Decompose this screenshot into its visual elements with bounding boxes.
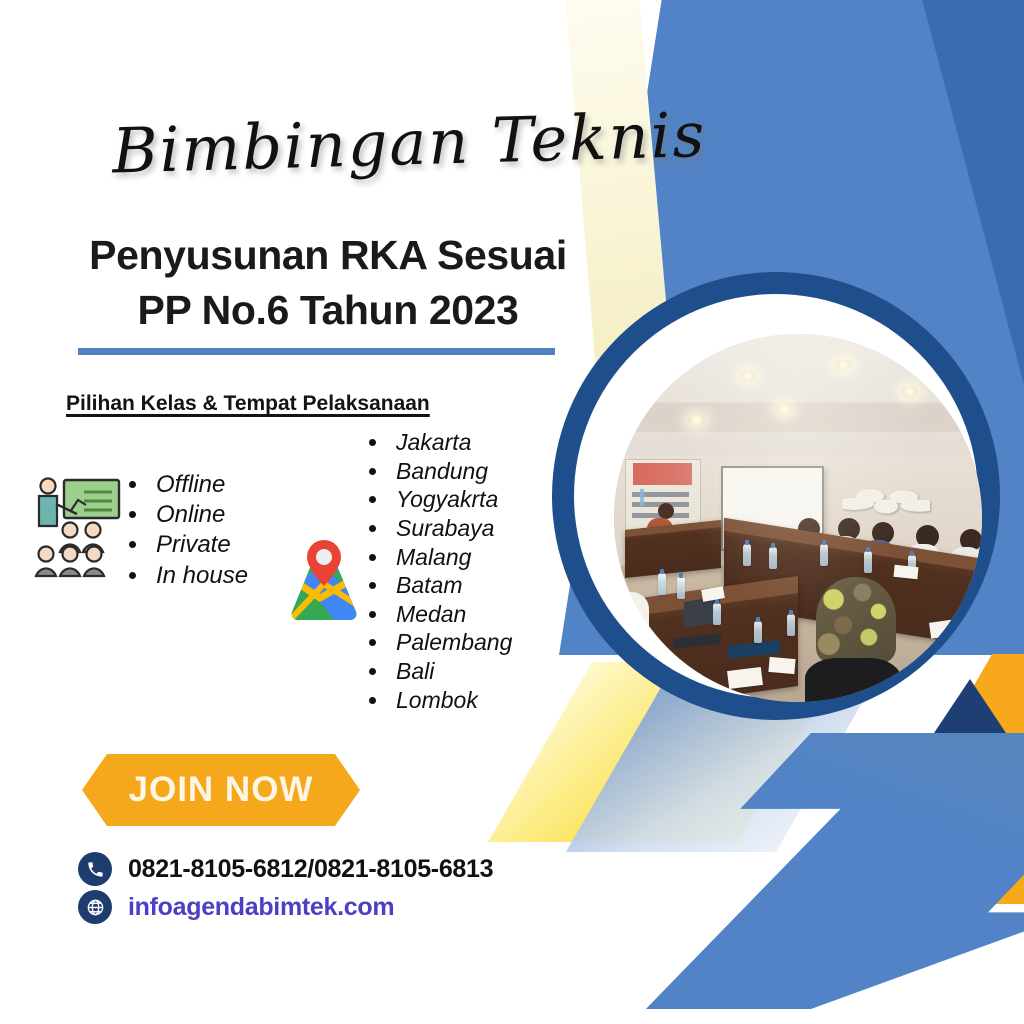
list-item: Bandung	[390, 457, 512, 486]
list-item: Palembang	[390, 628, 512, 657]
photo-ring-inner	[574, 294, 978, 698]
list-item: Offline	[150, 470, 248, 500]
locations-list: Jakarta Bandung Yogyakrta Surabaya Malan…	[366, 428, 512, 714]
list-item: Lombok	[390, 686, 512, 715]
globe-icon	[78, 890, 112, 924]
phone-contact-row[interactable]: 0821-8105-6812/0821-8105-6813	[78, 852, 493, 886]
poster-canvas: Bimbingan Teknis Penyusunan RKA Sesuai P…	[0, 0, 1024, 1024]
list-item: Jakarta	[390, 428, 512, 457]
script-heading: Bimbingan Teknis	[111, 101, 583, 187]
bottom-navy-triangle-second	[1000, 694, 1024, 874]
list-item: In house	[150, 561, 248, 591]
page-title-line-2: PP No.6 Tahun 2023	[78, 283, 578, 338]
class-options-list: Offline Online Private In house	[126, 470, 248, 591]
phone-icon	[78, 852, 112, 886]
website-contact-row[interactable]: infoagendabimtek.com	[78, 890, 394, 924]
page-title-line-1: Penyusunan RKA Sesuai	[78, 228, 578, 283]
join-now-button[interactable]: JOIN NOW	[82, 754, 360, 826]
section-heading: Pilihan Kelas & Tempat Pelaksanaan	[66, 392, 430, 416]
join-now-label: JOIN NOW	[129, 770, 314, 810]
page-title: Penyusunan RKA Sesuai PP No.6 Tahun 2023	[78, 228, 578, 338]
website-url: infoagendabimtek.com	[128, 893, 394, 922]
list-item: Surabaya	[390, 514, 512, 543]
list-item: Online	[150, 500, 248, 530]
list-item: Medan	[390, 600, 512, 629]
list-item: Bali	[390, 657, 512, 686]
list-item: Malang	[390, 543, 512, 572]
map-pin-icon	[276, 528, 372, 622]
list-item: Batam	[390, 571, 512, 600]
photo-ring-outer	[552, 272, 1000, 720]
list-item: Private	[150, 530, 248, 560]
classroom-training-icon	[30, 472, 122, 580]
title-divider	[78, 348, 555, 355]
seminar-photo	[614, 334, 982, 702]
phone-number: 0821-8105-6812/0821-8105-6813	[128, 855, 493, 884]
bottom-navy-triangle	[840, 679, 1024, 874]
list-item: Yogyakrta	[390, 485, 512, 514]
